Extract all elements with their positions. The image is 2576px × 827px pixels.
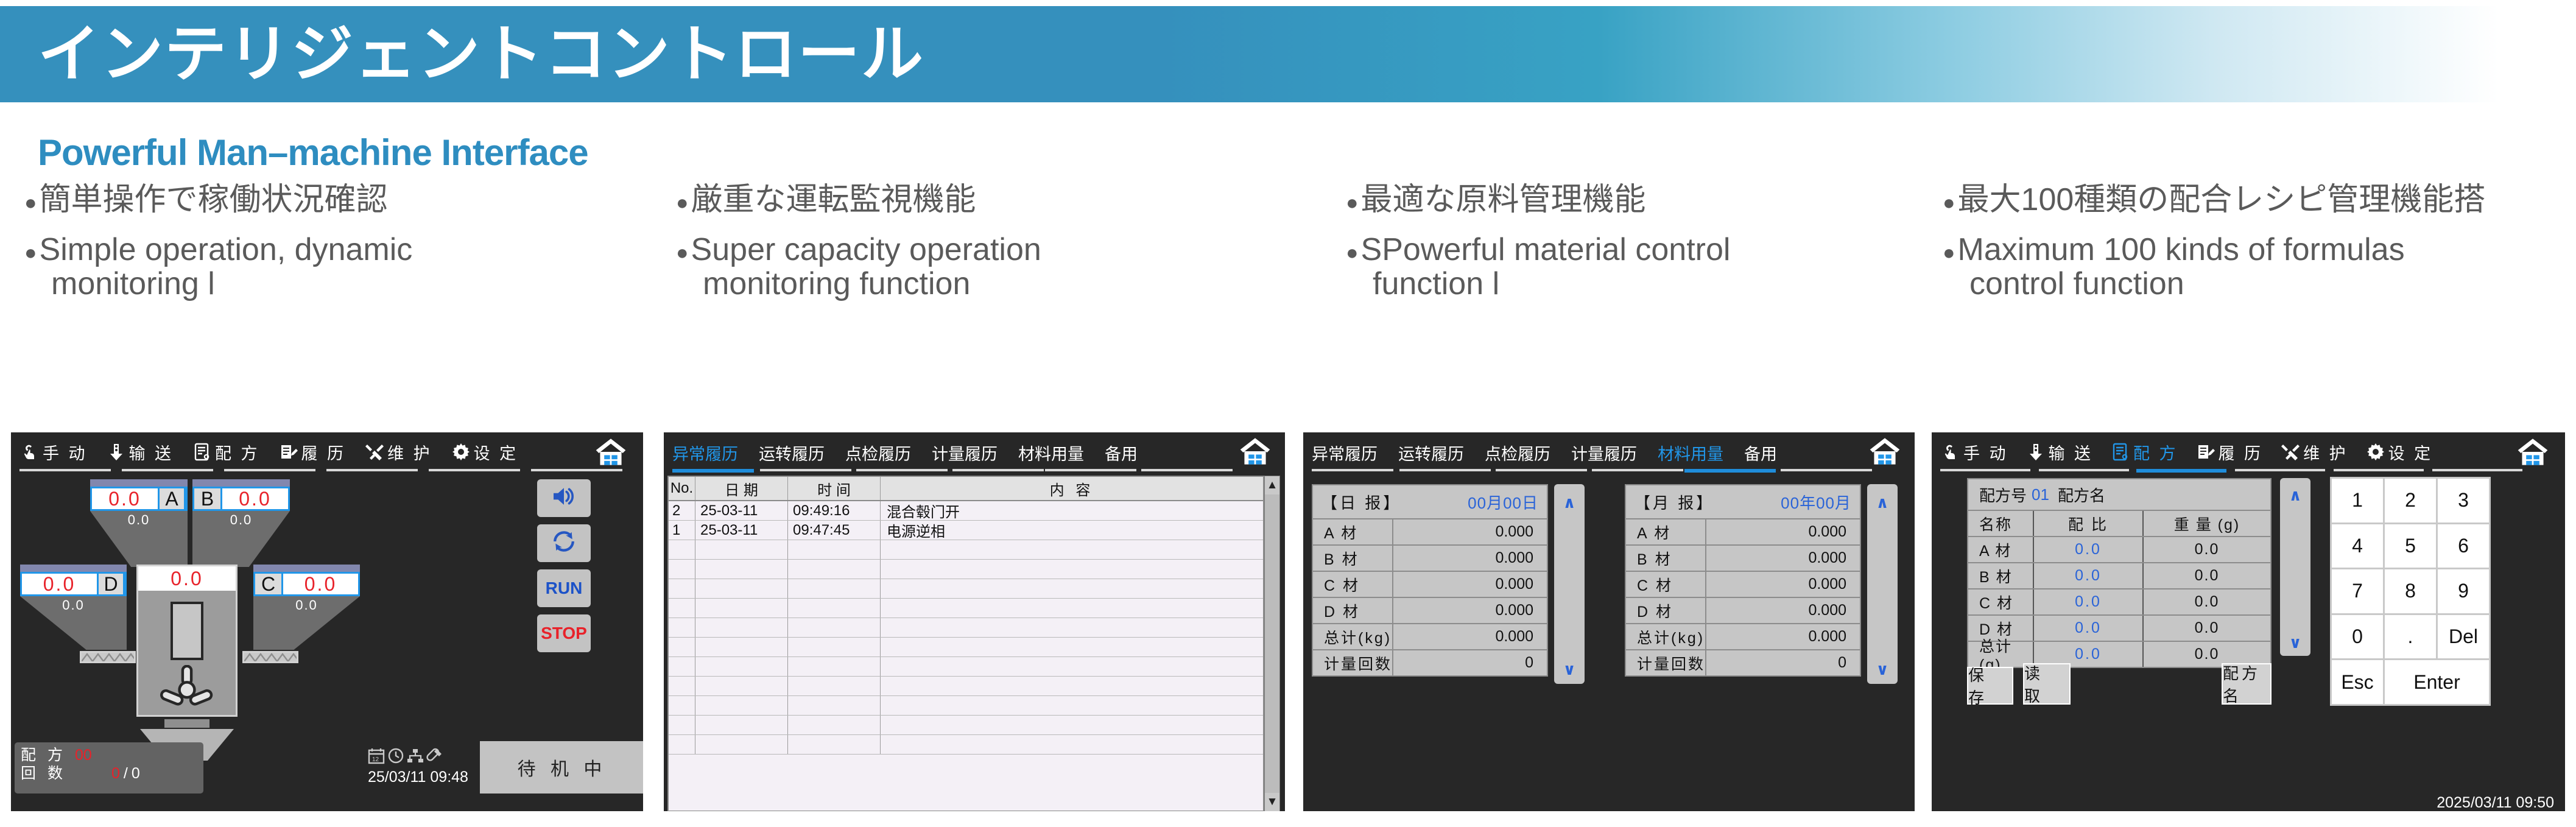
hmi-panel-manual: 手 动 输 送 配 方 履 历 维 护 <box>9 430 646 814</box>
toolbar-item-manual[interactable]: 手 动 <box>1940 440 2008 464</box>
hopper-readout: C 0.0 <box>253 572 360 596</box>
mixer-outlet-neck <box>164 719 209 728</box>
toolbar-item-maintenance[interactable]: 维 护 <box>2280 440 2348 464</box>
home-icon <box>1239 457 1272 468</box>
mixer-value: 0.0 <box>138 566 236 591</box>
feature-jp-line: ● 厳重な運転監視機能 <box>676 183 1041 217</box>
recipe-row: 配 方 00 <box>21 746 197 764</box>
recipe-name-label: 配方名 <box>2058 484 2105 506</box>
toolbar-item-settings[interactable]: 设 定 <box>2365 440 2433 464</box>
feature-column-1: ● 簡単操作で稼働状況確認 ● Simple operation, dynami… <box>24 183 412 301</box>
home-button[interactable] <box>1868 437 1901 468</box>
col-time: 时 间 <box>788 477 881 500</box>
gear-icon <box>2365 442 2386 462</box>
load-button[interactable]: 读 取 <box>2023 663 2071 705</box>
tab-spare[interactable]: 备用 <box>1105 441 1138 465</box>
scroll-down-icon[interactable]: ∨ <box>1867 663 1898 675</box>
tab-weighing-history[interactable]: 计量履历 <box>1571 441 1637 465</box>
toolbar-item-manual[interactable]: 手 动 <box>19 440 88 464</box>
hopper-tag: A <box>158 488 186 509</box>
alarm-table-header: No. 日 期 时 间 内 容 <box>669 477 1263 501</box>
toolbar-label: 设 定 <box>2388 440 2433 464</box>
feature-en-line: ● Maximum 100 kinds of formulas <box>1943 233 2485 267</box>
monthly-report-scrollbar[interactable]: ∧ ∨ <box>1867 484 1898 684</box>
sound-button[interactable] <box>537 479 591 517</box>
tab-alarm-history[interactable]: 异常履历 <box>672 441 738 465</box>
daily-report-header: 【日 报】 00月00日 <box>1313 485 1547 519</box>
key-escape[interactable]: Esc <box>2332 660 2383 704</box>
scroll-down-icon[interactable]: ∨ <box>2280 636 2310 649</box>
feature-en-line: ● SPowerful material control <box>1346 233 1730 267</box>
feature-column-3: ● 最適な原料管理機能 ● SPowerful material control… <box>1346 183 1730 301</box>
hmi-panel-material-usage: 异常履历 运转履历 点检履历 计量履历 材料用量 备用 【日 报】 00月00日… <box>1301 430 1917 814</box>
table-row[interactable]: B 材0.00.0 <box>1968 563 2270 589</box>
key-4[interactable]: 4 <box>2332 524 2383 568</box>
feature-en-line: ● Super capacity operation <box>676 233 1041 267</box>
table-row[interactable] <box>669 716 1263 735</box>
panel1-toolbar-underlines <box>15 469 639 473</box>
hopper-readout: 0.0 D <box>20 572 127 596</box>
network-icon <box>407 747 424 767</box>
toolbar-label: 手 动 <box>1963 440 2008 464</box>
toolbar-item-maintenance[interactable]: 维 护 <box>364 440 432 464</box>
toolbar-label: 设 定 <box>474 440 519 464</box>
bullet-icon: ● <box>1346 233 1359 263</box>
daily-report-table: 【日 报】 00月00日 A 材0.000 B 材0.000 C 材0.000 … <box>1312 484 1548 677</box>
toolbar-item-transport[interactable]: 输 送 <box>106 440 174 464</box>
feature-en-line: ● Simple operation, dynamic <box>24 233 412 267</box>
table-row[interactable]: 1 25-03-11 09:47:45 电源逆相 <box>669 521 1263 540</box>
hopper-body: 0.0 <box>253 596 360 650</box>
panel1-toolbar: 手 动 输 送 配 方 履 历 维 护 <box>11 432 643 469</box>
recipe-value: 00 <box>75 746 92 764</box>
mixer-shaft-box <box>171 602 203 660</box>
table-row: C 材0.000 <box>1626 572 1860 598</box>
tools-icon <box>364 442 385 462</box>
bullet-icon: ● <box>24 233 37 263</box>
hopper-value: 0.0 <box>92 488 158 509</box>
key-2[interactable]: 2 <box>2385 479 2436 523</box>
alarm-table: No. 日 期 时 间 内 容 2 25-03-11 09:49:16 混合毂门… <box>667 476 1264 812</box>
hopper-cap <box>192 479 290 487</box>
hopper-body: 0.0 <box>90 511 188 567</box>
hopper-value: 0.0 <box>222 488 288 509</box>
recipe-table: 配方号 01 配方名 名称 配 比 重 量 (g) A 材0.00.0 B 材0… <box>1967 478 2272 668</box>
feature-column-4: ● 最大100種類の配合レシピ管理機能搭 ● Maximum 100 kinds… <box>1943 183 2485 301</box>
key-8[interactable]: 8 <box>2385 569 2436 613</box>
panel4-datetime: 2025/03/11 09:50 <box>2437 794 2554 812</box>
table-row[interactable] <box>669 638 1263 657</box>
tab-operation-history[interactable]: 运转履历 <box>1398 441 1464 465</box>
daily-report-scrollbar[interactable]: ∧ ∨ <box>1554 484 1585 684</box>
hopper-readout: B 0.0 <box>192 487 290 511</box>
table-row: A 材0.000 <box>1313 519 1547 546</box>
table-row: 总计(kg)0.000 <box>1313 624 1547 650</box>
table-row: C 材0.000 <box>1313 572 1547 598</box>
refresh-button[interactable] <box>537 524 591 562</box>
hopper-tag: D <box>97 574 125 594</box>
vertical-scrollbar[interactable]: ▲ ▼ <box>1264 476 1280 812</box>
recipe-scrollbar[interactable]: ∧ ∨ <box>2280 478 2310 656</box>
tab-weighing-history[interactable]: 计量履历 <box>932 441 998 465</box>
bullet-icon: ● <box>24 183 37 213</box>
tab-material-usage[interactable]: 材料用量 <box>1018 441 1084 465</box>
recipe-column-headers: 名称 配 比 重 量 (g) <box>1968 511 2270 537</box>
monthly-report-date[interactable]: 00年00月 <box>1781 491 1851 513</box>
table-row: 总计(kg)0.000 <box>1626 624 1860 650</box>
numeric-keypad[interactable]: 1 2 3 4 5 6 7 8 9 0 . Del Esc Enter <box>2330 477 2491 706</box>
hand-touch-icon <box>19 442 40 462</box>
hopper-tag: B <box>194 488 222 509</box>
hopper-body: 0.0 <box>20 596 127 650</box>
feature-en-line-2: monitoring l <box>24 267 412 301</box>
header-band: インテリジェントコントロール <box>0 6 2576 102</box>
key-1[interactable]: 1 <box>2332 479 2383 523</box>
scroll-down-icon[interactable]: ∨ <box>1554 663 1585 675</box>
panel4-toolbar-underlines <box>1935 469 2561 473</box>
table-row[interactable]: C 材0.00.0 <box>1968 589 2270 616</box>
monthly-report-title: 【月 报】 <box>1635 491 1714 513</box>
key-7[interactable]: 7 <box>2332 569 2383 613</box>
refresh-icon <box>552 530 575 557</box>
feature-en-line-2: function l <box>1346 267 1730 301</box>
tab-material-usage[interactable]: 材料用量 <box>1658 441 1723 465</box>
status-badge: 待 机 中 <box>480 741 644 794</box>
clock-icon <box>387 747 404 767</box>
home-icon <box>1868 457 1901 468</box>
toolbar-label: 配 方 <box>2133 440 2178 464</box>
save-button[interactable]: 保 存 <box>1967 667 2013 705</box>
tab-alarm-history[interactable]: 异常履历 <box>1312 441 1378 465</box>
svg-text:12: 12 <box>372 756 379 763</box>
key-6[interactable]: 6 <box>2438 524 2489 568</box>
table-row[interactable] <box>669 618 1263 638</box>
bullet-icon: ● <box>676 233 689 263</box>
table-row[interactable] <box>669 696 1263 716</box>
daily-report-title: 【日 报】 <box>1321 491 1401 513</box>
panel4-toolbar: 手 动 输 送 配 方 履 历 维 护 <box>1932 432 2565 469</box>
hopper-A[interactable]: 0.0 A 0.0 <box>90 479 188 567</box>
table-row[interactable] <box>669 677 1263 696</box>
hopper-cap <box>253 565 360 572</box>
bullet-icon: ● <box>1943 233 1955 263</box>
panel3-screen: 【日 报】 00月00日 A 材0.000 B 材0.000 C 材0.000 … <box>1303 473 1915 814</box>
table-row[interactable] <box>669 540 1263 560</box>
recipe-no-value[interactable]: 01 <box>2032 485 2049 504</box>
scroll-up-icon[interactable]: ▲ <box>1265 476 1279 494</box>
screw-conveyor-right <box>242 651 298 663</box>
stop-button[interactable]: STOP <box>537 614 591 652</box>
table-row[interactable]: A 材0.00.0 <box>1968 537 2270 563</box>
bullet-icon: ● <box>1346 183 1359 213</box>
table-row[interactable] <box>669 579 1263 599</box>
recipe-info-box: 配 方 00 回 数 0 / 0 <box>15 742 203 794</box>
mixer-vessel[interactable]: 0.0 <box>136 565 238 717</box>
recipe-name-button[interactable]: 配方名 <box>2222 663 2272 705</box>
hopper-C[interactable]: C 0.0 0.0 <box>253 565 360 650</box>
page-subtitle: Powerful Man–machine Interface <box>38 132 588 174</box>
panel3-tab-underlines <box>1307 469 1911 473</box>
count-separator: / <box>124 764 128 783</box>
panel4-screen: 配方号 01 配方名 名称 配 比 重 量 (g) A 材0.00.0 B 材0… <box>1932 473 2565 814</box>
scroll-up-icon[interactable]: ∧ <box>1867 496 1898 509</box>
panel2-screen: No. 日 期 时 间 内 容 2 25-03-11 09:49:16 混合毂门… <box>664 473 1285 814</box>
gear-icon <box>451 442 471 462</box>
recipe-doc-icon <box>2110 442 2131 462</box>
home-icon <box>594 438 627 466</box>
home-icon <box>2516 438 2549 466</box>
history-pen-icon <box>2195 442 2216 462</box>
table-row: D 材0.000 <box>1313 598 1547 624</box>
feature-jp-line: ● 簡単操作で稼働状況確認 <box>24 183 412 217</box>
down-arrow-icon <box>106 442 127 462</box>
panel2-tab-underlines <box>667 469 1281 473</box>
col-no: No. <box>669 477 695 500</box>
hopper-value: 0.0 <box>283 574 358 594</box>
recipe-label: 配 方 <box>21 746 66 764</box>
key-enter[interactable]: Enter <box>2385 660 2489 704</box>
panel1-screen: 0.0 A 0.0 B 0.0 0.0 0.0 D <box>11 473 643 814</box>
panel3-tabbar: 异常履历 运转履历 点检履历 计量履历 材料用量 备用 <box>1303 432 1915 469</box>
hopper-B[interactable]: B 0.0 0.0 <box>192 479 290 567</box>
home-button[interactable] <box>1239 437 1272 468</box>
tab-operation-history[interactable]: 运转履历 <box>759 441 825 465</box>
toolbar-label: 输 送 <box>129 440 174 464</box>
toolbar-label: 维 护 <box>2303 440 2348 464</box>
down-arrow-icon <box>2025 442 2046 462</box>
hopper-subvalue: 0.0 <box>90 512 188 528</box>
bullet-icon: ● <box>1943 183 1955 213</box>
monthly-report-table: 【月 报】 00年00月 A 材0.000 B 材0.000 C 材0.000 … <box>1625 484 1861 677</box>
table-row: A 材0.000 <box>1626 519 1860 546</box>
recipe-doc-icon <box>192 442 213 462</box>
table-row[interactable] <box>669 560 1263 579</box>
tab-spare[interactable]: 备用 <box>1744 441 1777 465</box>
tab-inspection-history[interactable]: 点检履历 <box>845 441 911 465</box>
usb-icon <box>426 747 443 767</box>
hopper-readout: 0.0 A <box>90 487 188 511</box>
hand-touch-icon <box>1940 442 1961 462</box>
toolbar-item-recipe[interactable]: 配 方 <box>192 440 260 464</box>
key-delete[interactable]: Del <box>2438 615 2489 659</box>
toolbar-item-settings[interactable]: 设 定 <box>451 440 519 464</box>
table-row: 计量回数0 <box>1626 650 1860 675</box>
table-row: B 材0.000 <box>1626 546 1860 572</box>
hopper-value: 0.0 <box>22 574 97 594</box>
monthly-report-header: 【月 报】 00年00月 <box>1626 485 1860 519</box>
toolbar-label: 维 护 <box>387 440 432 464</box>
toolbar-item-transport[interactable]: 输 送 <box>2025 440 2094 464</box>
hmi-panel-recipe: 手 动 输 送 配 方 履 历 维 护 <box>1929 430 2567 814</box>
recipe-no-label: 配方号 <box>1979 484 2027 506</box>
home-button[interactable] <box>594 438 630 466</box>
hopper-body: 0.0 <box>192 511 290 567</box>
hopper-subvalue: 0.0 <box>253 597 360 613</box>
key-5[interactable]: 5 <box>2385 524 2436 568</box>
col-content: 内 容 <box>881 477 1263 500</box>
home-button[interactable] <box>2516 438 2552 466</box>
screw-conveyor-left <box>80 651 136 663</box>
panel2-tabbar: 异常履历 运转履历 点检履历 计量履历 材料用量 备用 <box>664 432 1285 469</box>
count-label: 回 数 <box>21 764 66 783</box>
feature-column-2: ● 厳重な運転監視機能 ● Super capacity operation m… <box>676 183 1041 301</box>
recipe-header: 配方号 01 配方名 <box>1968 479 2270 511</box>
tab-inspection-history[interactable]: 点检履历 <box>1485 441 1550 465</box>
table-row: 计量回数0 <box>1313 650 1547 675</box>
hopper-subvalue: 0.0 <box>192 512 290 528</box>
table-row[interactable]: 2 25-03-11 09:49:16 混合毂门开 <box>669 501 1263 521</box>
key-decimal[interactable]: . <box>2385 615 2436 659</box>
scroll-up-icon[interactable]: ∧ <box>1554 496 1585 509</box>
count-row: 回 数 0 / 0 <box>21 764 197 783</box>
feature-jp-line: ● 最適な原料管理機能 <box>1346 183 1730 217</box>
table-row[interactable] <box>669 735 1263 755</box>
feature-en-line-2: control function <box>1943 267 2485 301</box>
key-9[interactable]: 9 <box>2438 569 2489 613</box>
toolbar-item-recipe[interactable]: 配 方 <box>2110 440 2178 464</box>
toolbar-item-history[interactable]: 履 历 <box>278 440 347 464</box>
history-pen-icon <box>278 442 299 462</box>
toolbar-label: 手 动 <box>43 440 88 464</box>
table-row: B 材0.000 <box>1313 546 1547 572</box>
col-date: 日 期 <box>695 477 788 500</box>
toolbar-label: 履 历 <box>301 440 347 464</box>
toolbar-item-history[interactable]: 履 历 <box>2195 440 2264 464</box>
table-row: D 材0.000 <box>1626 598 1860 624</box>
feature-en-line-2: monitoring function <box>676 267 1041 301</box>
page-title: インテリジェントコントロール <box>38 15 924 94</box>
count-total: 0 <box>132 764 140 783</box>
hopper-D[interactable]: 0.0 D 0.0 <box>20 565 127 650</box>
key-0[interactable]: 0 <box>2332 615 2383 659</box>
tools-icon <box>2280 442 2301 462</box>
speaker-icon <box>551 486 577 511</box>
hopper-subvalue: 0.0 <box>20 597 127 613</box>
key-3[interactable]: 3 <box>2438 479 2489 523</box>
hopper-tag: C <box>255 574 283 594</box>
hopper-cap <box>20 565 127 572</box>
hmi-panel-alarm-history: 异常履历 运转履历 点检履历 计量履历 材料用量 备用 No. 日 期 时 间 … <box>661 430 1287 814</box>
table-row[interactable] <box>669 657 1263 677</box>
toolbar-label: 输 送 <box>2049 440 2094 464</box>
hopper-cap <box>90 479 188 487</box>
mixer-impeller-icon <box>160 665 214 713</box>
feature-jp-line: ● 最大100種類の配合レシピ管理機能搭 <box>1943 183 2485 217</box>
scroll-up-icon[interactable]: ∧ <box>2280 489 2310 501</box>
calendar-icon: 12 <box>368 747 385 767</box>
daily-report-date[interactable]: 00月00日 <box>1468 491 1538 513</box>
scroll-down-icon[interactable]: ▼ <box>1265 793 1279 811</box>
toolbar-label: 配 方 <box>215 440 260 464</box>
count-value: 0 <box>111 764 120 783</box>
table-row[interactable] <box>669 599 1263 618</box>
run-button[interactable]: RUN <box>537 569 591 607</box>
toolbar-label: 履 历 <box>2219 440 2264 464</box>
bullet-icon: ● <box>676 183 689 213</box>
